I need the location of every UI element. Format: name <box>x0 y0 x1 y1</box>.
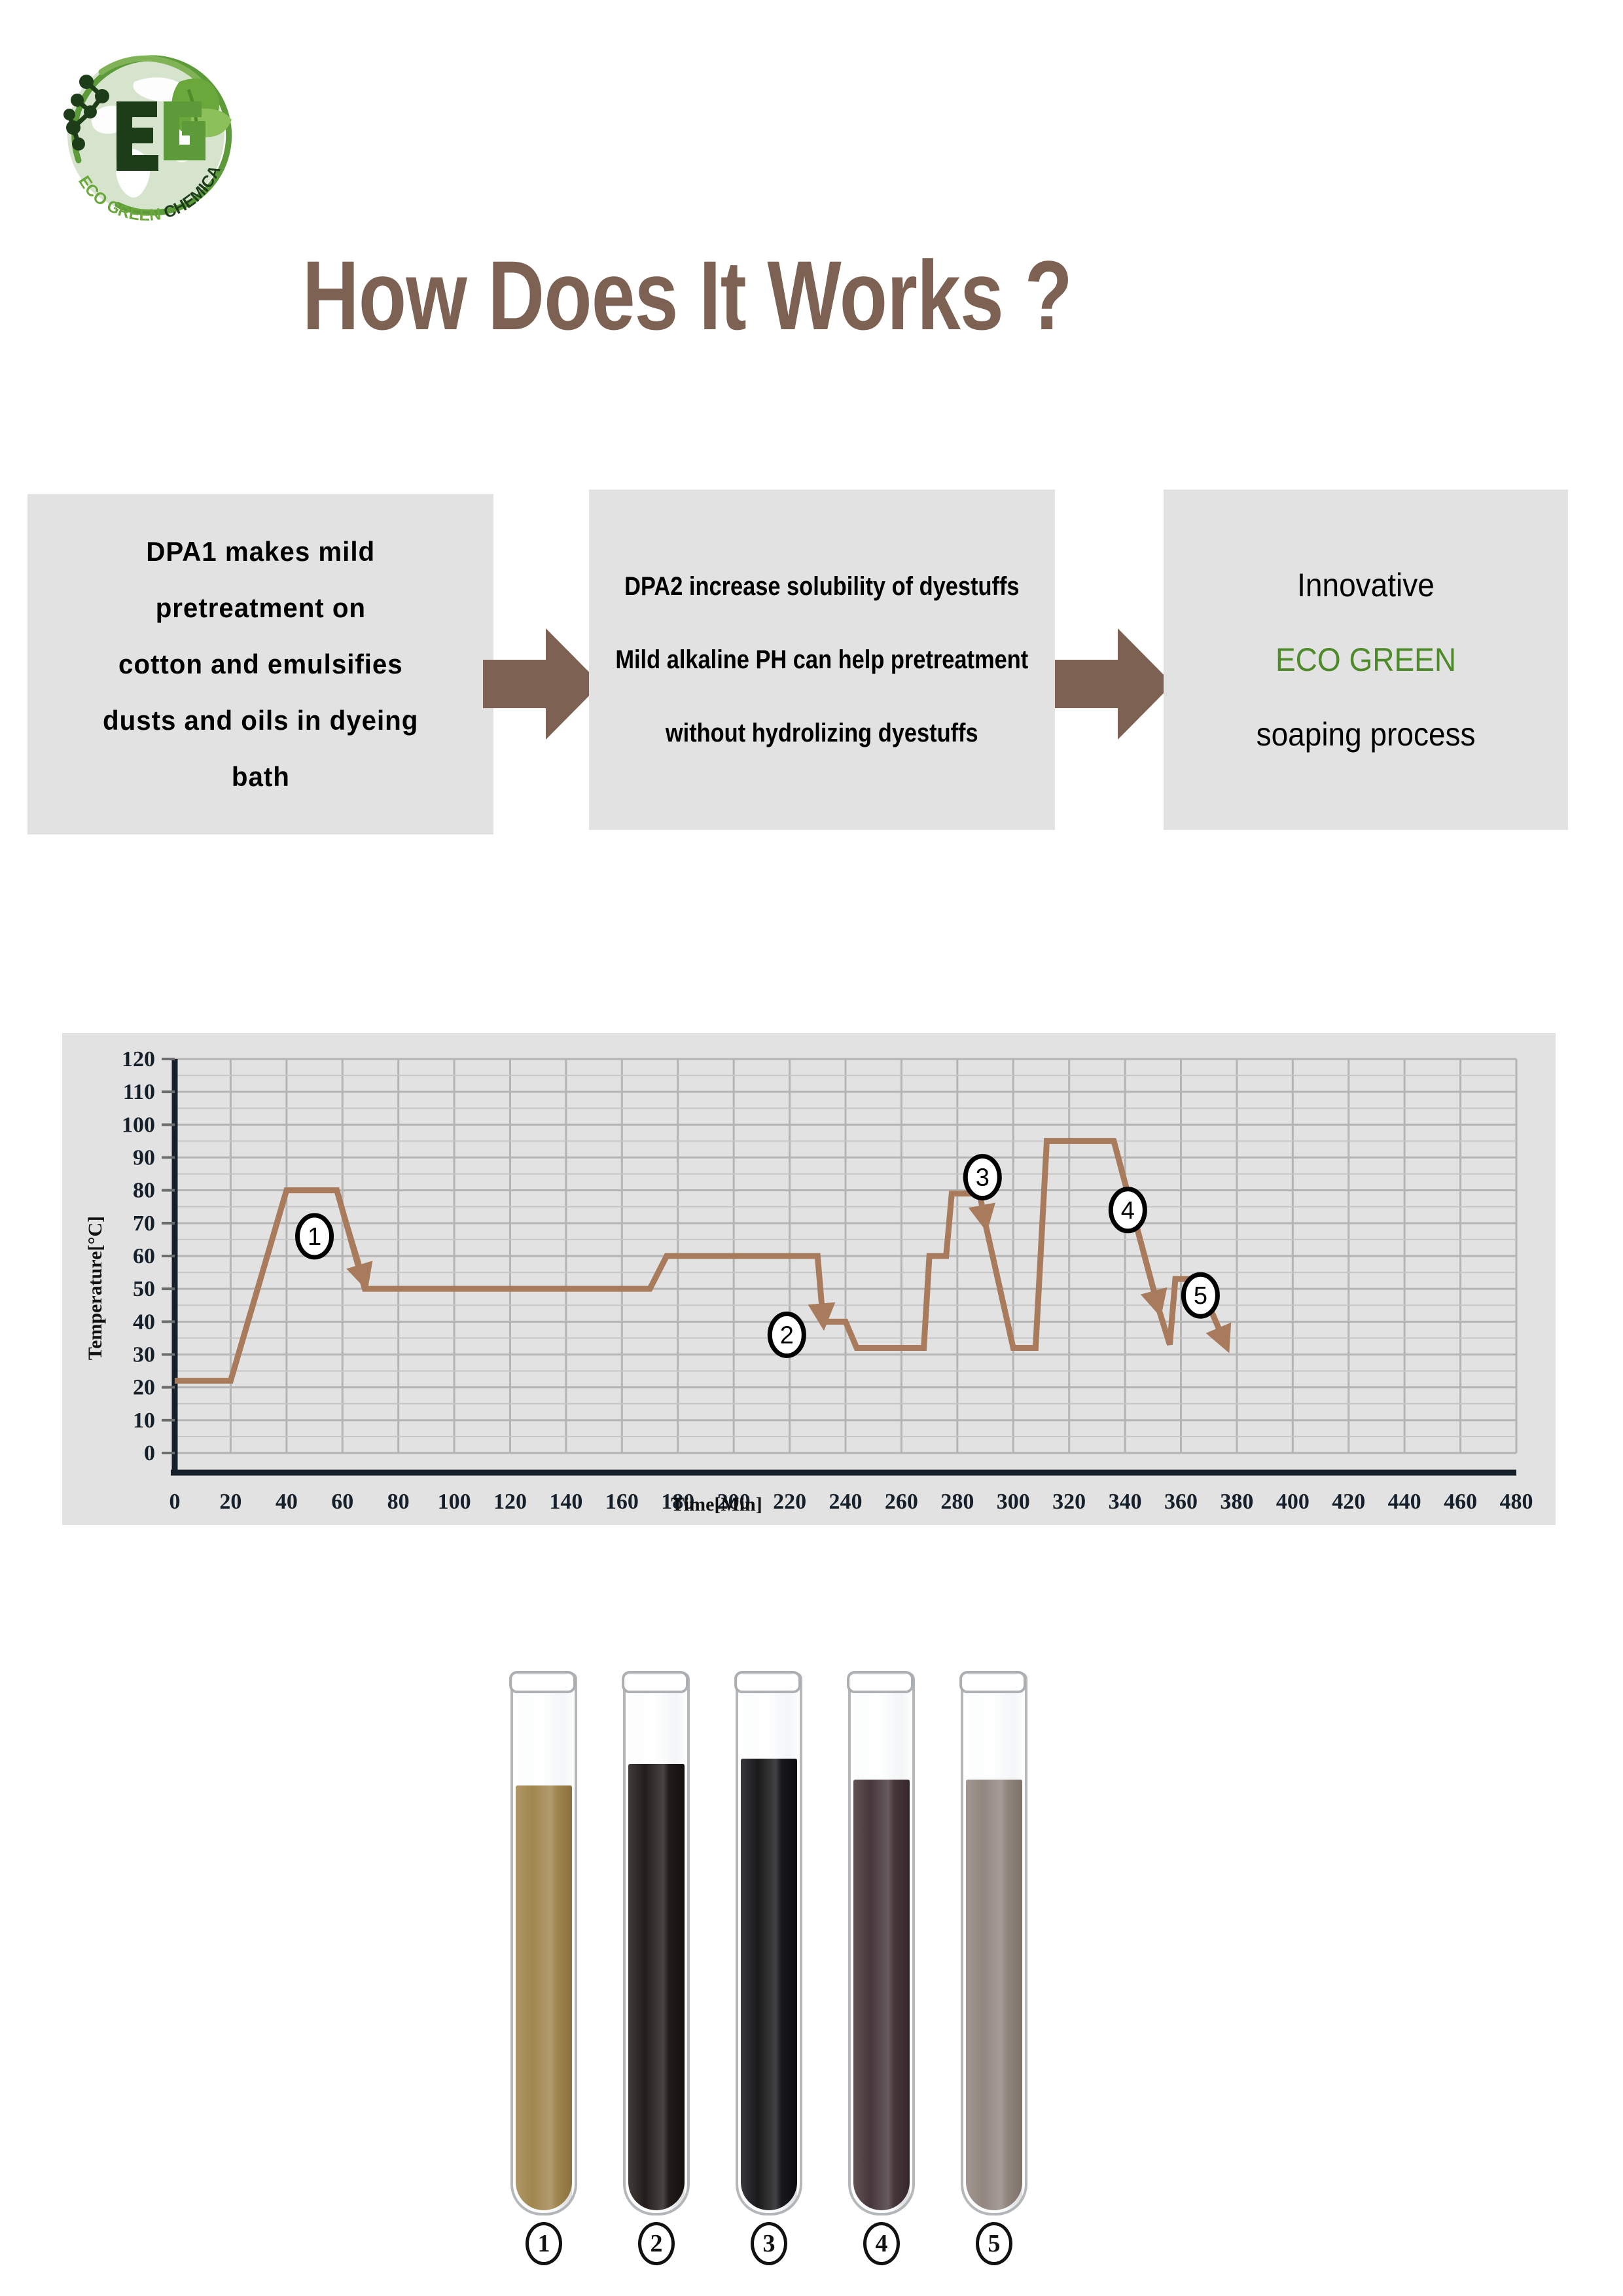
flow-box-dpa2: DPA2 increase solubility of dyestuffs Mi… <box>589 490 1055 830</box>
chart-x-tick: 40 <box>276 1490 298 1514</box>
chart-y-tick: 50 <box>133 1277 155 1301</box>
chart-annotation-label: 3 <box>976 1164 990 1192</box>
chart-y-tick: 10 <box>133 1408 155 1433</box>
chart-x-tick: 320 <box>1052 1490 1086 1514</box>
chart-gridlines <box>175 1059 1516 1453</box>
chart-series-line <box>175 1141 1226 1380</box>
tube-3-rim <box>734 1671 801 1693</box>
tube-5-liquid <box>966 1780 1022 2210</box>
flow-box3-line-2: ECO GREEN <box>1275 643 1456 676</box>
chart-x-tick: 140 <box>549 1490 582 1514</box>
chart-x-tick: 340 <box>1109 1490 1142 1514</box>
chart-x-tick: 100 <box>438 1490 471 1514</box>
chart-y-tick: 30 <box>133 1343 155 1367</box>
flow-arrow-1 <box>483 628 601 740</box>
test-tube-4 <box>848 1672 915 2215</box>
chart-annotation-1: 1 <box>298 1191 365 1282</box>
chart-x-tick: 0 <box>169 1490 181 1514</box>
chart-y-tick: 100 <box>122 1113 155 1137</box>
tube-5-rim <box>959 1671 1026 1693</box>
test-tube-1 <box>510 1672 577 2215</box>
test-tube-3 <box>736 1672 802 2215</box>
chart-x-tick: 280 <box>940 1490 974 1514</box>
chart-y-tick: 70 <box>133 1211 155 1236</box>
chart-y-tick: 110 <box>123 1080 155 1104</box>
chart-annotation-3: 3 <box>965 1157 999 1223</box>
chart-x-axis-label: Time[Min] <box>671 1494 762 1515</box>
flow-box1-line-3: cotton and emulsifies <box>118 651 403 678</box>
arrow-right-icon <box>1055 628 1173 740</box>
tube-badge-row: 1 2 3 4 5 <box>510 2222 1113 2268</box>
chart-x-tick: 420 <box>1332 1490 1365 1514</box>
flow-box1-line-4: dusts and oils in dyeing <box>103 707 418 734</box>
chart-y-tick: 40 <box>133 1310 155 1334</box>
chart-annotation-label: 2 <box>780 1321 794 1349</box>
tube-badge-3: 3 <box>751 2222 787 2265</box>
chart-x-tick: 380 <box>1220 1490 1253 1514</box>
tube-2-rim <box>622 1671 688 1693</box>
chart-x-tick: 80 <box>387 1490 410 1514</box>
chart-x-tick: 360 <box>1164 1490 1198 1514</box>
flow-box2-line-2: Mild alkaline PH can help pretreatment <box>616 647 1029 673</box>
tube-4-liquid <box>853 1780 910 2210</box>
chart-annotation-label: 4 <box>1121 1197 1135 1225</box>
page-title: How Does It Works ? <box>137 239 1237 352</box>
flow-box1-line-5: bath <box>232 763 290 791</box>
chart-x-tick: 440 <box>1388 1490 1421 1514</box>
tube-3-liquid <box>741 1759 797 2210</box>
flow-box-result: Innovative ECO GREEN soaping process <box>1164 490 1568 830</box>
chart-x-tick: 20 <box>219 1490 241 1514</box>
temperature-profile-chart: 0102030405060708090100110120 02040608010… <box>62 1033 1556 1525</box>
chart-x-tick: 220 <box>773 1490 806 1514</box>
chart-y-axis-label: Temperature[°C] <box>84 1216 106 1360</box>
chart-y-tick: 80 <box>133 1179 155 1203</box>
chart-y-tick: 60 <box>133 1244 155 1268</box>
chart-x-tick: 120 <box>493 1490 527 1514</box>
chart-annotation-5: 5 <box>1183 1274 1225 1344</box>
chart-y-tick: 20 <box>133 1376 155 1400</box>
arrow-right-icon <box>483 628 601 740</box>
tube-1-liquid <box>516 1785 572 2210</box>
chart-y-tick-labels: 0102030405060708090100110120 <box>122 1047 155 1465</box>
flow-arrow-2 <box>1055 628 1173 740</box>
flow-box-dpa1: DPA1 makes mild pretreatment on cotton a… <box>27 494 493 834</box>
test-tube-2 <box>623 1672 690 2215</box>
flow-box2-line-3: without hydrolizing dyestuffs <box>666 720 978 746</box>
chart-svg: 0102030405060708090100110120 02040608010… <box>62 1033 1556 1525</box>
chart-y-tick: 0 <box>144 1441 155 1465</box>
chart-x-tick: 300 <box>997 1490 1030 1514</box>
chart-x-tick: 400 <box>1276 1490 1310 1514</box>
logo-svg: ECO GREEN CHEMICALS <box>39 36 255 252</box>
chart-x-tick: 260 <box>885 1490 918 1514</box>
tube-badge-2: 2 <box>638 2222 675 2265</box>
chart-axes <box>162 1059 1516 1473</box>
flow-box2-line-1: DPA2 increase solubility of dyestuffs <box>624 573 1019 600</box>
chart-x-tick-labels: 0204060801001201401601802002202402602803… <box>169 1490 1533 1514</box>
chart-x-tick: 240 <box>829 1490 863 1514</box>
tube-2-liquid <box>628 1764 685 2210</box>
flow-box3-line-3: soaping process <box>1257 718 1476 751</box>
chart-x-tick: 60 <box>331 1490 353 1514</box>
chart-annotation-label: 1 <box>308 1223 321 1251</box>
flow-box3-line-1: Innovative <box>1297 569 1435 601</box>
tube-badge-4: 4 <box>863 2222 900 2265</box>
chart-x-tick: 460 <box>1444 1490 1477 1514</box>
chart-annotation-label: 5 <box>1194 1282 1207 1310</box>
chart-y-tick: 90 <box>133 1146 155 1170</box>
flow-box1-line-1: DPA1 makes mild <box>146 538 375 565</box>
company-logo: ECO GREEN CHEMICALS <box>39 36 255 252</box>
chart-x-tick: 160 <box>605 1490 639 1514</box>
flow-box1-line-2: pretreatment on <box>155 594 365 622</box>
chart-line <box>175 1141 1226 1380</box>
tube-badge-1: 1 <box>526 2222 562 2265</box>
test-tube-5 <box>961 1672 1027 2215</box>
chart-y-tick: 120 <box>122 1047 155 1071</box>
tube-1-rim <box>509 1671 576 1693</box>
tube-badge-5: 5 <box>976 2222 1012 2265</box>
test-tube-row: 1 2 3 4 5 <box>510 1672 1113 2248</box>
tube-4-rim <box>847 1671 914 1693</box>
chart-x-tick: 480 <box>1500 1490 1533 1514</box>
